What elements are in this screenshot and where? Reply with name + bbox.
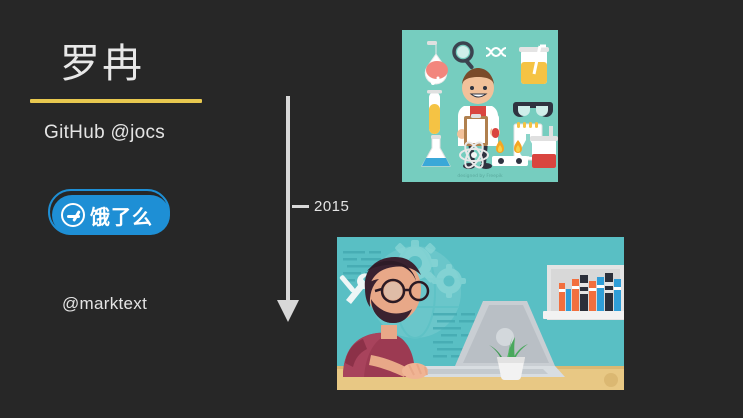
developer-illustration	[337, 237, 624, 390]
eleme-e-icon	[61, 203, 85, 227]
title-underline-rule	[30, 99, 202, 103]
corner-watermark	[604, 373, 618, 387]
timeline-tick-2015	[292, 205, 309, 208]
timeline-axis	[286, 96, 290, 302]
science-illustration: designed by Freepik	[402, 30, 558, 182]
timeline-arrow-icon	[277, 300, 299, 322]
timeline-year-label: 2015	[314, 198, 349, 215]
marktext-handle-label: @marktext	[62, 294, 147, 314]
github-handle-label: GitHub @jocs	[44, 122, 165, 144]
slide-canvas: 罗冉 GitHub @jocs 饿了么 @marktext 2015	[0, 0, 743, 418]
eleme-logo: 饿了么	[44, 193, 172, 241]
beaker-with-straw-icon	[519, 46, 549, 84]
specimen-jar-icon	[530, 136, 558, 168]
bookshelf	[543, 265, 624, 320]
freepik-credit: designed by Freepik	[457, 173, 503, 179]
logo-text: 饿了么	[90, 201, 153, 230]
logo-pill: 饿了么	[52, 195, 170, 235]
page-title: 罗冉	[60, 40, 144, 88]
